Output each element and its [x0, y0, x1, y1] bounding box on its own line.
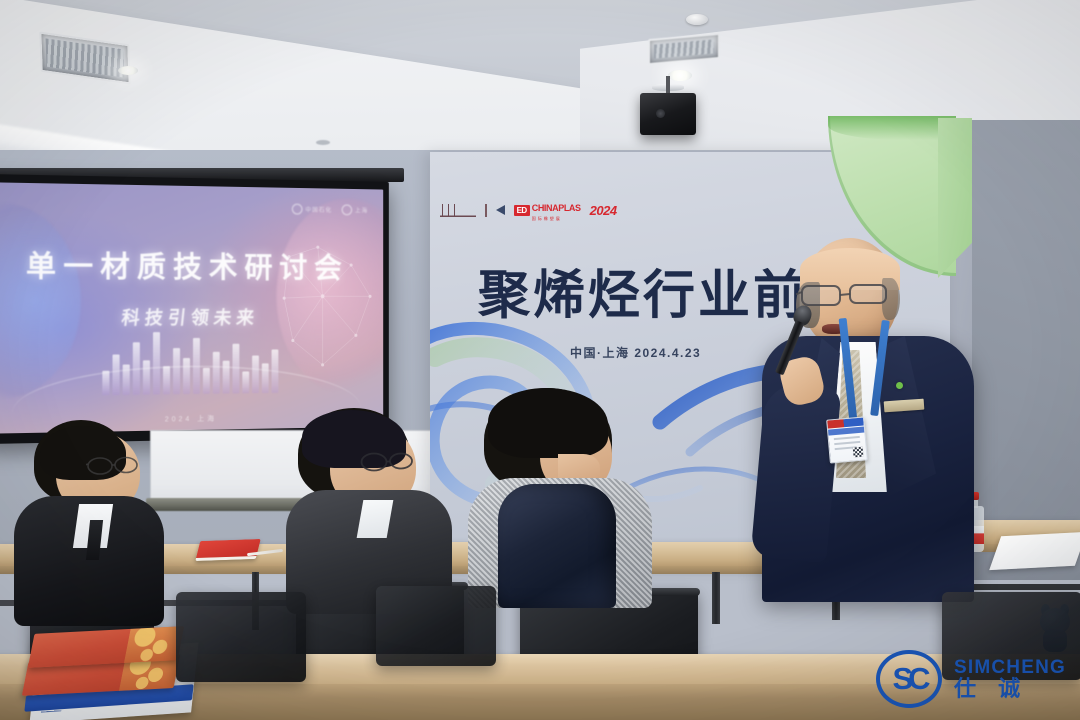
red-notebook	[195, 539, 261, 561]
downlight-icon	[118, 66, 138, 75]
attendee-3-vest	[498, 484, 616, 608]
backdrop-event-logo: ED CHINAPLAS 国际橡塑展 2024	[440, 198, 617, 222]
projector-icon	[640, 93, 696, 135]
logo-divider-icon	[485, 204, 487, 217]
chair-foreground-mid	[376, 586, 496, 666]
brand-name-en: SIMCHENG	[954, 658, 1066, 677]
table-leg	[712, 572, 720, 624]
qr-code-icon	[853, 447, 864, 458]
speaker-arm	[750, 381, 841, 563]
smoke-detector-icon	[316, 140, 330, 145]
name-badge	[826, 416, 868, 463]
slide-logo-1-label: 中国石化	[305, 205, 332, 214]
slide-logo-2: 上海	[342, 204, 369, 215]
attendee-3	[462, 388, 672, 608]
glasses-icon	[796, 280, 906, 310]
slide-title: 单一材质技术研讨会	[0, 242, 383, 287]
projection-screen: 中国石化 上海 单一材质技术研讨会 科技引领未来 2024 上海	[0, 174, 389, 444]
downlight-icon	[668, 70, 692, 81]
badge-text-line	[834, 436, 860, 440]
glasses-icon	[360, 450, 416, 474]
brand-name-cn: 仕 诚	[954, 678, 1066, 700]
chinaplas-sub: 国际橡塑展	[532, 216, 581, 222]
attendee-3-hair-top	[488, 388, 608, 458]
slide-logo-row: 中国石化 上海	[292, 204, 368, 216]
projection-screen-surface: 中国石化 上海 单一材质技术研讨会 科技引领未来 2024 上海	[0, 182, 383, 433]
slide-logo-2-label: 上海	[355, 206, 368, 215]
chinaplas-pill: ED	[514, 205, 530, 216]
backdrop-subtitle: 中国·上海 2024.4.23	[570, 344, 701, 361]
chair-foreground-left	[176, 592, 306, 682]
smoke-detector-icon	[686, 14, 708, 25]
sc-monogram-icon: SC	[876, 650, 942, 708]
simcheng-watermark-logo: SC SIMCHENG 仕 诚	[876, 650, 1066, 708]
slide-globe-left-graphic	[0, 202, 81, 400]
badge-text-line	[834, 441, 860, 445]
speaker	[756, 238, 986, 598]
c-logo-icon	[342, 204, 352, 215]
glasses-icon	[86, 454, 142, 478]
conference-photo-scene: 中国石化 上海 单一材质技术研讨会 科技引领未来 2024 上海	[0, 0, 1080, 720]
book-stack	[20, 630, 186, 714]
lapel-pin-icon	[896, 382, 903, 389]
logo-monogram-text: SC	[887, 658, 931, 700]
chinaplas-wordmark: CHINAPLAS	[532, 203, 581, 213]
attendee-2	[286, 408, 476, 608]
chinaplas-logo: ED CHINAPLAS 国际橡塑展	[514, 198, 581, 222]
exhibitor-scribble-icon	[440, 204, 476, 217]
circle-logo-icon	[292, 204, 303, 215]
slide-logo-1: 中国石化	[292, 204, 332, 215]
loose-papers	[989, 532, 1080, 570]
watermark-text-block: SIMCHENG 仕 诚	[954, 658, 1066, 700]
play-triangle-icon	[496, 205, 505, 215]
event-year: 2024	[590, 203, 617, 218]
attendee-1	[14, 420, 184, 610]
